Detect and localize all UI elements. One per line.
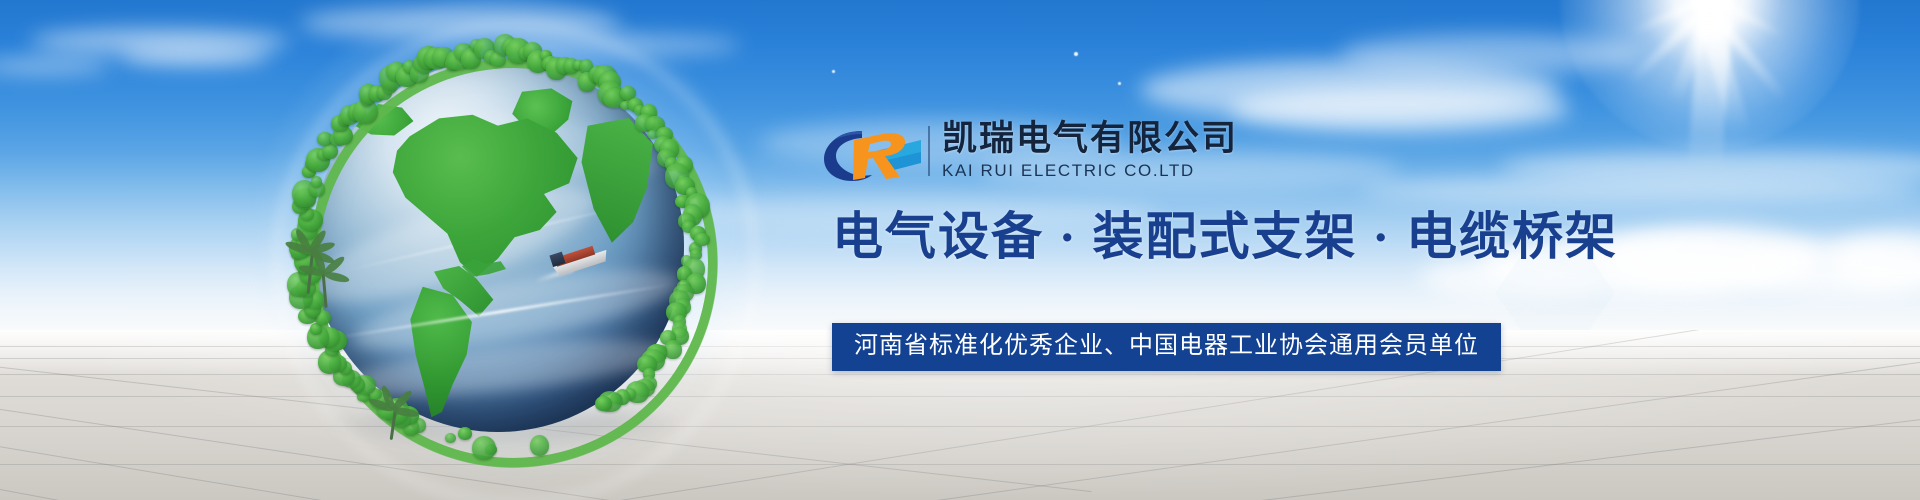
tile-diagonal — [1180, 388, 1920, 500]
earth-sphere — [312, 60, 684, 432]
headline-slogan: 电气设备 · 装配式支架 · 电缆桥架 — [832, 208, 1618, 268]
tile-line — [0, 464, 1920, 465]
brand-text-block: 凯瑞电气有限公司 KAI RUI ELECTRIC CO.LTD — [942, 118, 1238, 182]
sparkle — [832, 70, 835, 73]
tile-line — [0, 426, 1920, 427]
brand-lockup: 凯瑞电气有限公司 KAI RUI ELECTRIC CO.LTD — [820, 118, 1520, 196]
credential-ribbon: 河南省标准化优秀企业、中国电器工业协会通用会员单位 — [832, 323, 1501, 371]
company-name-en: KAI RUI ELECTRIC CO.LTD — [942, 160, 1238, 182]
brand-divider — [928, 126, 930, 176]
globe-illustration — [290, 30, 720, 470]
banner-content: 凯瑞电气有限公司 KAI RUI ELECTRIC CO.LTD 电气设备 · … — [820, 118, 1520, 196]
company-name-cn: 凯瑞电气有限公司 — [942, 118, 1238, 160]
sparkle — [1118, 82, 1121, 85]
cloud — [120, 46, 270, 66]
cr-monogram-logo-icon — [820, 122, 924, 184]
landmass-eurasia-edge — [580, 118, 656, 248]
sparkle — [1074, 52, 1078, 56]
hero-banner: 凯瑞电气有限公司 KAI RUI ELECTRIC CO.LTD 电气设备 · … — [0, 0, 1920, 500]
credential-ribbon-text: 河南省标准化优秀企业、中国电器工业协会通用会员单位 — [854, 332, 1479, 360]
